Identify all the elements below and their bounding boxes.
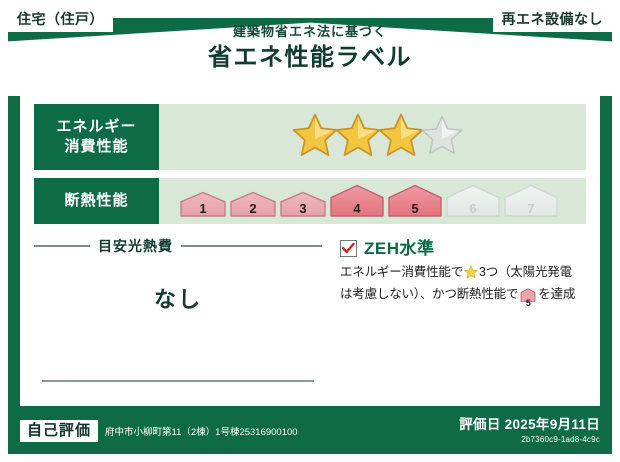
energy-label-line1: エネルギー: [56, 117, 136, 137]
footer-right: 評価日 2025年9月11日 2b7360c9-1ad8-4c9c: [459, 417, 600, 445]
star-filled-icon: [292, 112, 338, 163]
zeh-desc-line1-post: 3つ（太陽光発電: [479, 265, 572, 279]
insulation-label-text: 断熱性能: [64, 191, 128, 211]
utility-cost-section: 目安光熱費 なし: [34, 232, 334, 398]
energy-performance-value: [159, 104, 586, 170]
star-filled-icon: [335, 112, 381, 163]
house-scale: 1234567: [179, 184, 559, 218]
utility-cost-heading: 目安光熱費: [34, 236, 322, 256]
evaluation-id: 2b7360c9-1ad8-4c9c: [459, 435, 600, 445]
star-icon-inline: [464, 265, 478, 285]
zeh-desc-line2-pre: は考慮しない）、かつ断熱性能で: [340, 287, 518, 301]
star-empty-icon: [421, 114, 463, 161]
renewable-equipment-tag: 再エネ設備なし: [493, 8, 613, 32]
energy-performance-label: エネルギー 消費性能: [34, 104, 159, 170]
house-level-7: 7: [503, 184, 559, 218]
zeh-section: ZEH水準 エネルギー消費性能で3つ（太陽光発電 は考慮しない）、かつ断熱性能で…: [334, 232, 586, 398]
building-type-tag: 住宅（住戸）: [8, 8, 113, 32]
check-icon: [342, 243, 355, 254]
property-address: 府中市小柳町第11（2棟）1号棟25316900100: [105, 424, 298, 438]
house-level-4: 4: [329, 184, 385, 218]
house-level-6: 6: [445, 184, 501, 218]
star-rating: [292, 112, 463, 163]
energy-label-line2: 消費性能: [64, 137, 128, 157]
self-evaluation-badge: 自己評価: [20, 420, 98, 442]
zeh-desc-line2-post: を達成: [538, 287, 575, 301]
evaluation-date: 評価日 2025年9月11日: [459, 417, 600, 434]
page-title: 省エネ性能ラベル: [0, 44, 620, 73]
zeh-heading: ZEH水準: [340, 240, 586, 257]
zeh-title: ZEH水準: [364, 240, 435, 257]
house-icon-inline: 5: [520, 288, 536, 308]
insulation-performance-label: 断熱性能: [34, 178, 159, 224]
cost-bottom-divider: [42, 380, 314, 382]
house-level-2: 2: [229, 191, 277, 218]
lower-section: 目安光熱費 なし ZEH水準 エネルギー消費性能で3つ（太陽光発電: [34, 232, 586, 398]
house-level-5: 5: [387, 184, 443, 218]
zeh-checkbox[interactable]: [340, 240, 357, 257]
utility-cost-value: なし: [34, 282, 322, 314]
insulation-performance-value: 1234567: [159, 178, 586, 224]
cost-rule-left: [34, 245, 90, 247]
zeh-desc-line1-pre: エネルギー消費性能で: [340, 265, 463, 279]
footer: 自己評価 府中市小柳町第11（2棟）1号棟25316900100 評価日 202…: [20, 410, 600, 452]
cost-rule-right: [181, 245, 322, 247]
main-panel: エネルギー 消費性能 断熱性能 1234567 目安光熱費: [20, 90, 600, 406]
energy-performance-row: エネルギー 消費性能: [34, 104, 586, 170]
house-level-3: 3: [279, 191, 327, 218]
energy-performance-label: 住宅（住戸） 再エネ設備なし 建築物省エネ法に基づく 省エネ性能ラベル エネルギ…: [0, 0, 620, 462]
utility-cost-title: 目安光熱費: [98, 236, 173, 256]
house-level-1: 1: [179, 191, 227, 218]
inline-house-number: 5: [520, 299, 536, 308]
zeh-description: エネルギー消費性能で3つ（太陽光発電 は考慮しない）、かつ断熱性能で5を達成: [340, 263, 586, 309]
star-filled-icon: [378, 112, 424, 163]
insulation-performance-row: 断熱性能 1234567: [34, 178, 586, 224]
